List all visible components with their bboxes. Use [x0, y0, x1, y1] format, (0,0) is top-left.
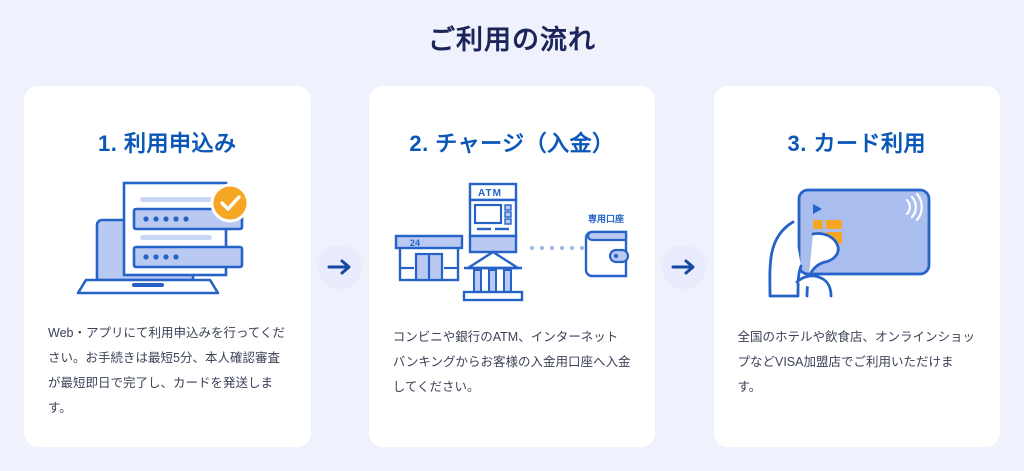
bank-building-icon	[464, 252, 522, 300]
arrow-slot-2	[655, 86, 713, 447]
dotted-connector-icon	[530, 245, 584, 249]
convenience-store-icon: 24	[396, 236, 462, 280]
step-2-illustration: 24 ATM	[369, 170, 656, 315]
step-3-illustration	[714, 170, 1001, 315]
svg-text:24: 24	[410, 238, 420, 248]
step-1-illustration	[24, 170, 311, 315]
hand-holding-credit-card-icon	[757, 178, 957, 308]
steps-container: 1. 利用申込み	[24, 86, 1000, 447]
step-2-body: コンビニや銀行のATM、インターネットバンキングからお客様の入金用口座へ入金して…	[393, 325, 632, 400]
step-2-title: 2. チャージ（入金）	[369, 126, 656, 158]
arrow-step2-to-step3	[662, 245, 706, 289]
wallet-caption: 専用口座	[588, 213, 624, 224]
step-1-body: Web・アプリにて利用申込みを行ってください。お手続きは最短5分、本人確認審査が…	[48, 321, 287, 421]
laptop-form-approved-icon	[72, 173, 262, 313]
step-card-3: 3. カード利用	[714, 86, 1001, 447]
usage-flow-section: ご利用の流れ 1. 利用申込み	[0, 0, 1024, 471]
arrow-right-icon	[327, 257, 353, 277]
page-title: ご利用の流れ	[0, 18, 1024, 57]
step-3-title: 3. カード利用	[714, 126, 1001, 158]
svg-text:ATM: ATM	[478, 188, 502, 199]
step-3-body: 全国のホテルや飲食店、オンラインショップなどVISA加盟店でご利用いただけます。	[738, 325, 977, 400]
step-1-title: 1. 利用申込み	[24, 126, 311, 158]
step-card-2: 2. チャージ（入金） 24	[369, 86, 656, 447]
arrow-right-icon	[671, 257, 697, 277]
arrow-slot-1	[311, 86, 369, 447]
wallet-icon: 専用口座	[586, 213, 628, 276]
arrow-step1-to-step2	[318, 245, 362, 289]
step-card-1: 1. 利用申込み	[24, 86, 311, 447]
convenience-store-atm-bank-wallet-icon: 24 ATM	[392, 178, 632, 308]
atm-machine-icon: ATM	[470, 184, 516, 252]
